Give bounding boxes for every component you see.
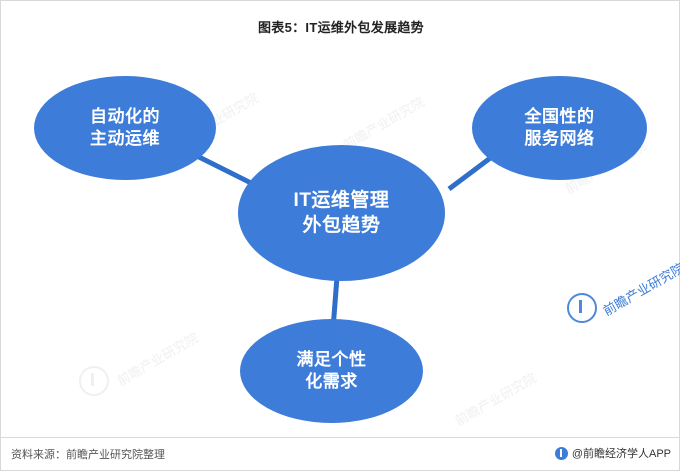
node-center-line-1: IT运维管理 [294,188,390,213]
brand-label: @前瞻经济学人APP [572,445,671,461]
diagram-canvas: 前瞻产业研究院 前瞻产业研究院 前瞻产业研究院 前瞻产业研究院 前瞻产业研究院 … [1,41,680,426]
brand-credit: @前瞻经济学人APP [555,445,671,461]
node-bottom[interactable]: 满足个性 化需求 [240,319,423,423]
node-center[interactable]: IT运维管理 外包趋势 [238,145,445,281]
node-top-right-line-1: 全国性的 [525,106,595,128]
footer: 资料来源：前瞻产业研究院整理 @前瞻经济学人APP [1,438,680,470]
source-note: 资料来源：前瞻产业研究院整理 [11,446,165,462]
chart-page: 图表5：IT运维外包发展趋势 前瞻产业研究院 前瞻产业研究院 前瞻产业研究院 前… [0,0,680,471]
page-title: 图表5：IT运维外包发展趋势 [1,17,680,36]
qianzhan-logo-icon [555,447,568,460]
node-top-left[interactable]: 自动化的 主动运维 [34,76,216,180]
node-center-line-2: 外包趋势 [294,213,390,238]
node-top-left-line-1: 自动化的 [90,106,160,128]
node-bottom-line-1: 满足个性 [297,349,367,371]
node-top-right[interactable]: 全国性的 服务网络 [472,76,647,180]
node-top-left-line-2: 主动运维 [90,128,160,150]
node-bottom-line-2: 化需求 [297,371,367,393]
node-top-right-line-2: 服务网络 [525,128,595,150]
